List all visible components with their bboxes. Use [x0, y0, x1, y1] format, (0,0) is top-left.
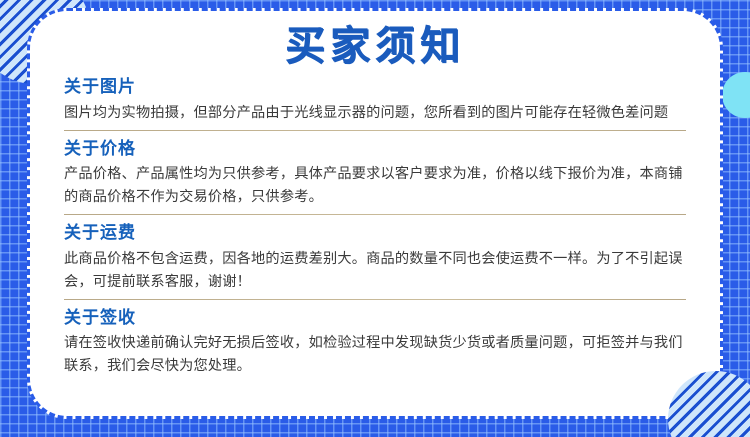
- buyer-notice-card: 买家须知 关于图片 图片均为实物拍摄，但部分产品由于光线显示器的问题，您所看到的…: [27, 8, 723, 419]
- section-heading-images: 关于图片: [64, 75, 686, 101]
- section-body-receipt: 请在签收快递前确认完好无损后签收，如检验过程中发现缺货少货或者质量问题，可拒签并…: [64, 332, 686, 378]
- notice-section-shipping: 关于运费 此商品价格不包含运费，因各地的运费差别大。商品的数量不同也会使运费不一…: [64, 219, 686, 294]
- section-divider: [64, 299, 686, 300]
- section-divider: [64, 214, 686, 215]
- notice-section-price: 关于价格 产品价格、产品属性均为只供参考，具体产品要求以客户要求为准，价格以线下…: [64, 135, 686, 210]
- section-body-price: 产品价格、产品属性均为只供参考，具体产品要求以客户要求为准，价格以线下报价为准，…: [64, 163, 686, 209]
- section-heading-price: 关于价格: [64, 137, 686, 163]
- section-body-shipping: 此商品价格不包含运费，因各地的运费差别大。商品的数量不同也会使运费不一样。为了不…: [64, 248, 686, 294]
- section-body-images: 图片均为实物拍摄，但部分产品由于光线显示器的问题，您所看到的图片可能存在轻微色差…: [64, 102, 686, 125]
- section-heading-receipt: 关于签收: [64, 306, 686, 332]
- notice-section-receipt: 关于签收 请在签收快递前确认完好无损后签收，如检验过程中发现缺货少货或者质量问题…: [64, 304, 686, 379]
- page-title: 买家须知: [64, 23, 686, 69]
- section-divider: [64, 130, 686, 131]
- notice-section-images: 关于图片 图片均为实物拍摄，但部分产品由于光线显示器的问题，您所看到的图片可能存…: [64, 73, 686, 125]
- section-heading-shipping: 关于运费: [64, 221, 686, 247]
